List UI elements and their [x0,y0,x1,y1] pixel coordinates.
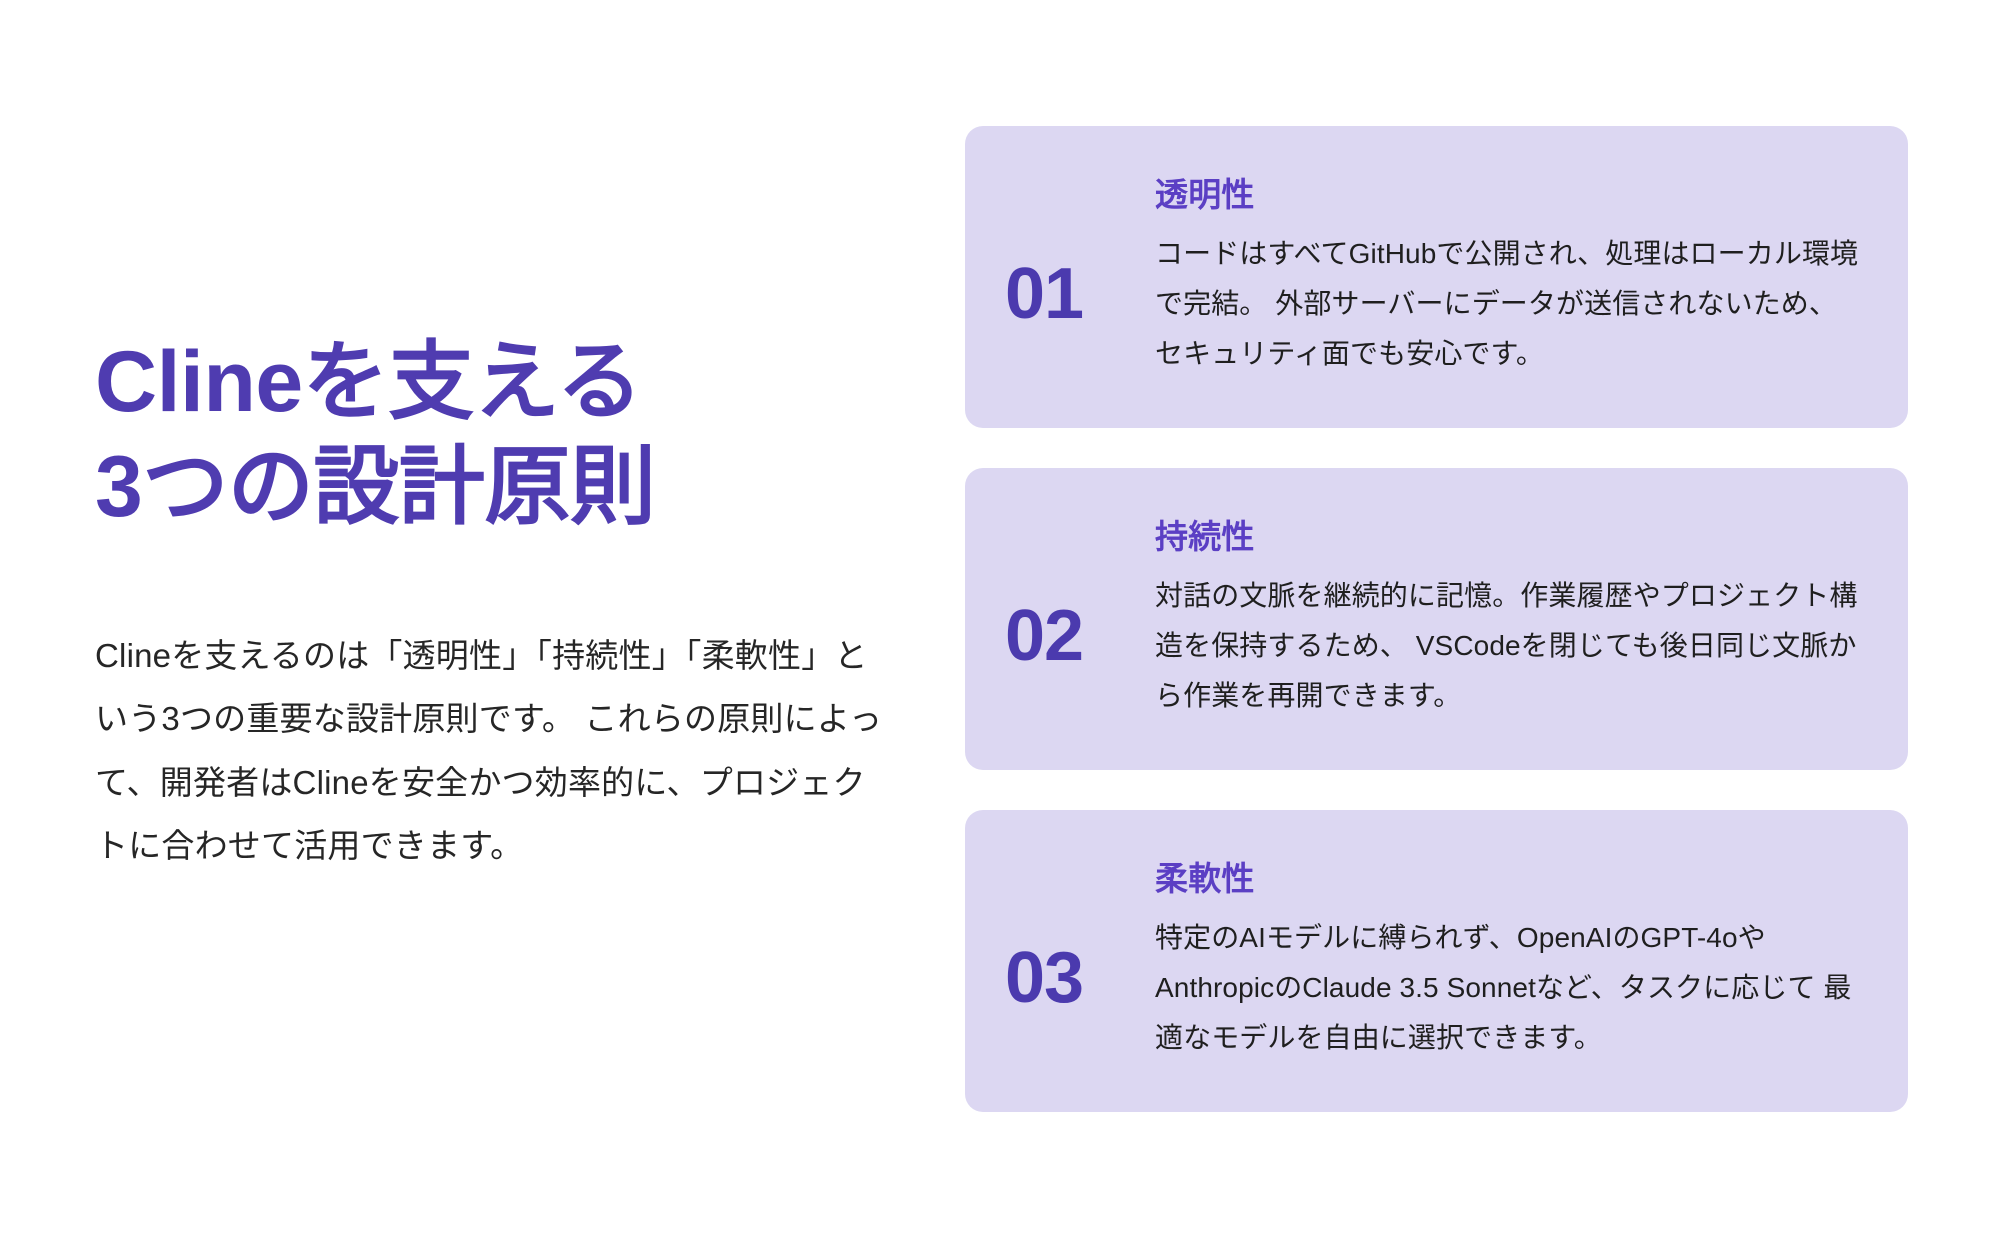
principle-number: 02 [1005,566,1155,672]
intro-paragraph: Clineを支えるのは「透明性」「持続性」「柔軟性」という3つの重要な設計原則で… [95,540,885,877]
principle-card-list: 01 透明性 コードはすべてGitHubで公開され、処理はローカル環境で完結。 … [965,126,1908,1112]
principle-content: 柔軟性 特定のAIモデルに縛られず、OpenAIのGPT-4oやAnthropi… [1155,859,1864,1062]
principle-title: 柔軟性 [1155,859,1864,899]
principle-description: 特定のAIモデルに縛られず、OpenAIのGPT-4oやAnthropicのCl… [1155,913,1864,1062]
principle-description: コードはすべてGitHubで公開され、処理はローカル環境で完結。 外部サーバーに… [1155,229,1864,378]
principle-title: 持続性 [1155,517,1864,557]
principle-number: 03 [1005,908,1155,1014]
principle-title: 透明性 [1155,175,1864,215]
page-title: Clineを支える 3つの設計原則 [95,330,885,540]
principle-content: 透明性 コードはすべてGitHubで公開され、処理はローカル環境で完結。 外部サ… [1155,175,1864,378]
principle-card-02: 02 持続性 対話の文脈を継続的に記憶。作業履歴やプロジェクト構造を保持するため… [965,468,1908,770]
principle-card-03: 03 柔軟性 特定のAIモデルに縛られず、OpenAIのGPT-4oやAnthr… [965,810,1908,1112]
principle-number: 01 [1005,224,1155,330]
page-title-line-2: 3つの設計原則 [95,435,885,540]
intro-section: Clineを支える 3つの設計原則 Clineを支えるのは「透明性」「持続性」「… [95,330,885,877]
slide-root: Clineを支える 3つの設計原則 Clineを支えるのは「透明性」「持続性」「… [0,0,2000,1244]
principle-card-01: 01 透明性 コードはすべてGitHubで公開され、処理はローカル環境で完結。 … [965,126,1908,428]
principle-content: 持続性 対話の文脈を継続的に記憶。作業履歴やプロジェクト構造を保持するため、 V… [1155,517,1864,720]
page-title-line-1: Clineを支える [95,330,885,435]
principle-description: 対話の文脈を継続的に記憶。作業履歴やプロジェクト構造を保持するため、 VSCod… [1155,571,1864,720]
